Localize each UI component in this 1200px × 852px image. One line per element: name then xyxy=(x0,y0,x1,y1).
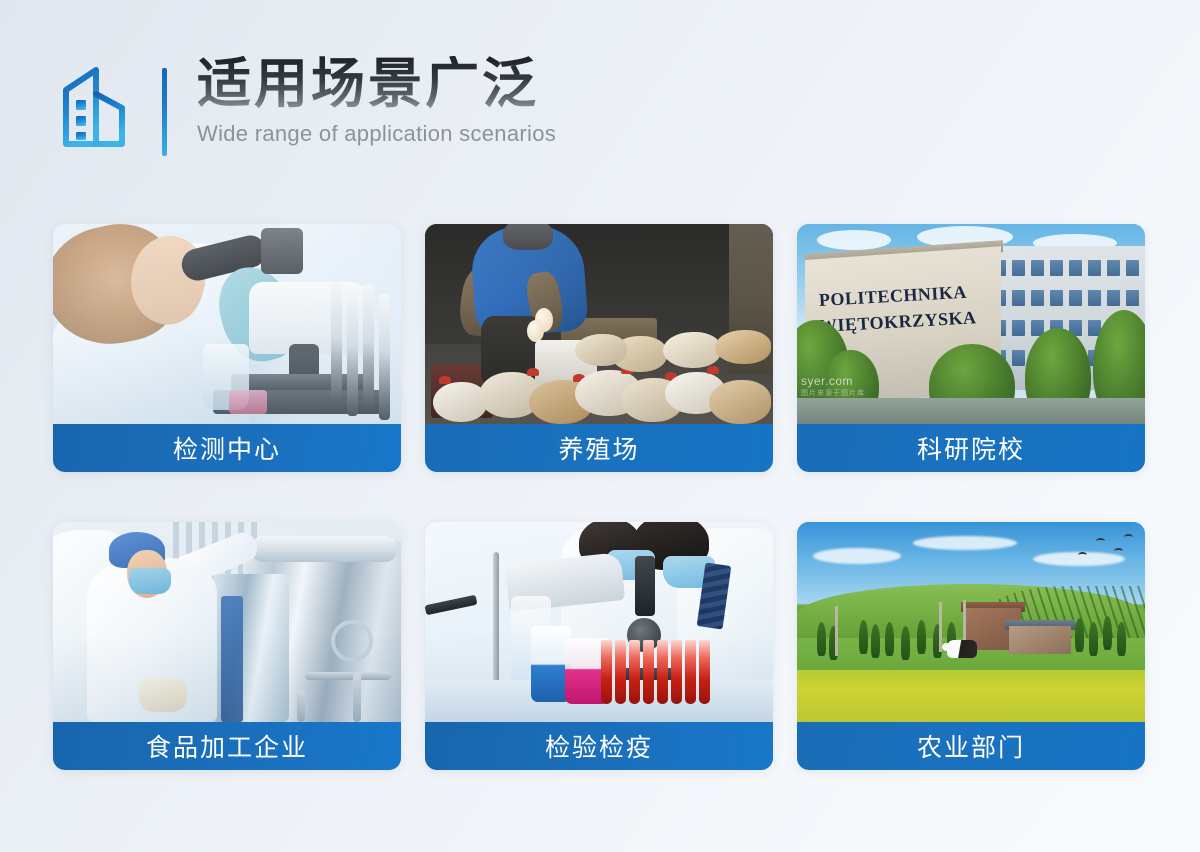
building-icon xyxy=(60,64,134,150)
header-divider xyxy=(162,68,167,156)
scene-inspection-laboratory xyxy=(425,522,773,722)
scenario-card-detection-center[interactable]: 检测中心 xyxy=(53,224,401,472)
card-caption-agriculture-department: 农业部门 xyxy=(797,722,1145,770)
application-scenarios-page: 适用场景广泛 Wide range of application scenari… xyxy=(0,0,1200,852)
card-image-food-processing xyxy=(53,522,401,722)
card-image-agriculture-department xyxy=(797,522,1145,722)
card-caption-detection-center: 检测中心 xyxy=(53,424,401,472)
page-title: 适用场景广泛 xyxy=(197,56,556,113)
card-image-breeding-farm xyxy=(425,224,773,424)
card-caption-research-institute: 科研院校 xyxy=(797,424,1145,472)
scenario-card-inspection-quarantine[interactable]: 检验检疫 xyxy=(425,522,773,770)
scenario-card-research-institute[interactable]: POLITECHNIKA WIĘTOKRZYSKA syer.com 图片来源于… xyxy=(797,224,1145,472)
scenario-card-food-processing[interactable]: 食品加工企业 xyxy=(53,522,401,770)
card-image-inspection-quarantine xyxy=(425,522,773,722)
scene-farmland xyxy=(797,522,1145,722)
card-caption-inspection-quarantine: 检验检疫 xyxy=(425,722,773,770)
page-header: 适用场景广泛 Wide range of application scenari… xyxy=(60,56,556,156)
card-caption-food-processing: 食品加工企业 xyxy=(53,722,401,770)
scenario-card-grid: 检测中心 xyxy=(53,224,1147,770)
scenario-card-agriculture-department[interactable]: 农业部门 xyxy=(797,522,1145,770)
card-caption-breeding-farm: 养殖场 xyxy=(425,424,773,472)
page-subtitle: Wide range of application scenarios xyxy=(197,121,556,147)
scene-food-processing-plant xyxy=(53,522,401,722)
scene-microscope-lab xyxy=(53,224,401,424)
image-watermark: syer.com 图片来源于图片库 xyxy=(801,374,865,398)
scene-poultry-farm xyxy=(425,224,773,424)
header-text-block: 适用场景广泛 Wide range of application scenari… xyxy=(197,56,556,147)
card-image-detection-center xyxy=(53,224,401,424)
scenario-card-breeding-farm[interactable]: 养殖场 xyxy=(425,224,773,472)
scene-university-building: POLITECHNIKA WIĘTOKRZYSKA syer.com 图片来源于… xyxy=(797,224,1145,424)
card-image-research-institute: POLITECHNIKA WIĘTOKRZYSKA syer.com 图片来源于… xyxy=(797,224,1145,424)
